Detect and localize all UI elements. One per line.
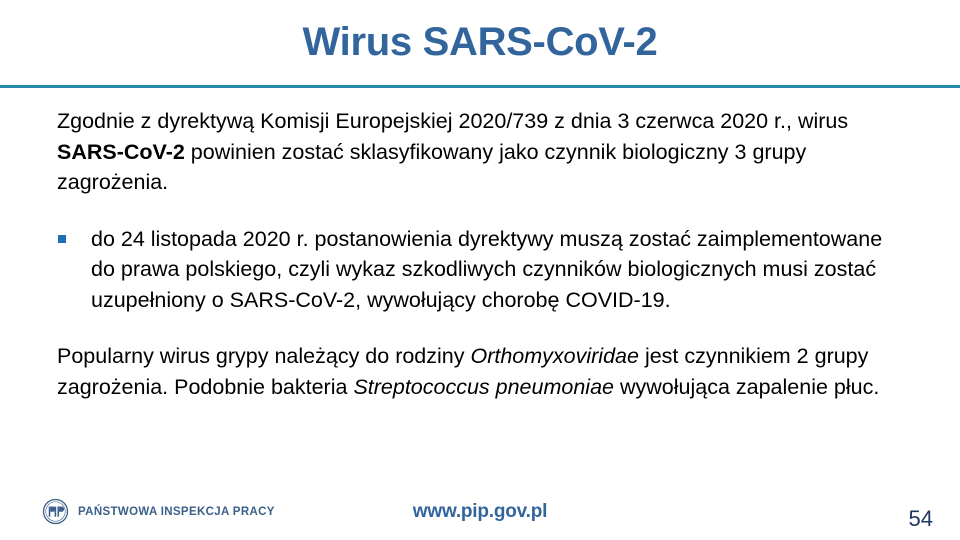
- paragraph-directive-text-1: Zgodnie z dyrektywą Komisji Europejskiej…: [57, 109, 848, 133]
- paragraph-comparison: Popularny wirus grypy należący do rodzin…: [57, 341, 885, 402]
- slide-footer: PAŃSTWOWA INSPEKCJA PRACY www.pip.gov.pl…: [0, 492, 960, 540]
- paragraph-comparison-text-3: wywołująca zapalenie płuc.: [614, 375, 879, 399]
- title-divider-rule: [0, 85, 960, 88]
- paragraph-directive-bold-term: SARS-CoV-2: [57, 140, 185, 164]
- paragraph-comparison-italic-1: Orthomyxoviridae: [470, 344, 638, 368]
- paragraph-directive: Zgodnie z dyrektywą Komisji Europejskiej…: [57, 106, 885, 198]
- paragraph-comparison-italic-2: Streptococcus pneumoniae: [353, 375, 614, 399]
- slide-body: Zgodnie z dyrektywą Komisji Europejskiej…: [57, 106, 885, 402]
- slide-page-number: 54: [909, 506, 933, 532]
- footer-website-url[interactable]: www.pip.gov.pl: [0, 501, 960, 523]
- list-item-label: do 24 listopada 2020 r. postanowienia dy…: [91, 224, 885, 316]
- slide-canvas: Wirus SARS-CoV-2 Zgodnie z dyrektywą Kom…: [0, 0, 960, 540]
- slide-title: Wirus SARS-CoV-2: [0, 18, 960, 66]
- bullet-list: do 24 listopada 2020 r. postanowienia dy…: [57, 224, 885, 316]
- list-item: do 24 listopada 2020 r. postanowienia dy…: [57, 224, 885, 316]
- title-area: Wirus SARS-CoV-2: [0, 18, 960, 66]
- square-bullet-icon: [58, 235, 66, 243]
- paragraph-comparison-text-1: Popularny wirus grypy należący do rodzin…: [57, 344, 470, 368]
